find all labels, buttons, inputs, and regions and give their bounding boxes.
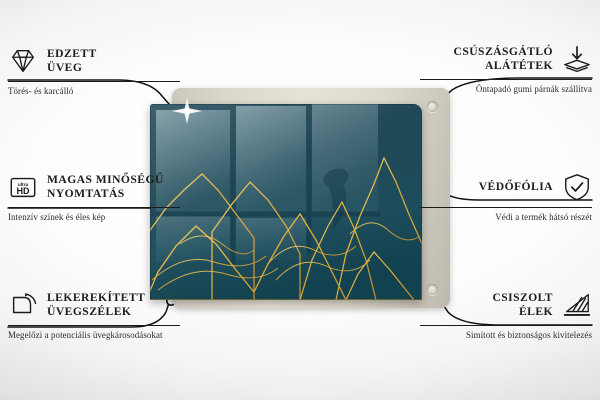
tempered-glass-panel xyxy=(150,104,422,300)
feature-title: EDZETT ÜVEG xyxy=(47,47,97,75)
infographic-canvas: EDZETT ÜVEG Törés- és karcálló ultra HD … xyxy=(0,0,600,400)
feature-header: LEKEREKÍTETT ÜVEGSZÉLEK xyxy=(8,288,180,322)
feature-description: Megelőzi a potenciális üvegkárosodásokat xyxy=(8,330,180,342)
divider xyxy=(8,207,180,208)
rounded-corner-icon xyxy=(8,290,38,320)
feature-description: Intenzív színek és éles kép xyxy=(8,212,180,224)
divider xyxy=(8,325,180,326)
feature-magas-minosegu-nyomtatas[interactable]: ultra HD MAGAS MINŐSÉGŰ NYOMTATÁS Intenz… xyxy=(8,170,180,224)
feature-description: Öntapadó gumi párnák szállítva xyxy=(420,84,592,96)
feature-description: Törés- és karcálló xyxy=(8,86,180,98)
anti-slip-pad-icon xyxy=(562,44,592,74)
feature-title: LEKEREKÍTETT ÜVEGSZÉLEK xyxy=(47,291,145,319)
shield-check-icon xyxy=(562,172,592,202)
ultra-hd-icon: ultra HD xyxy=(8,172,38,202)
feature-description: Védi a termék hátsó részét xyxy=(420,212,592,224)
svg-text:HD: HD xyxy=(17,186,30,196)
product-image xyxy=(150,96,450,308)
diamond-icon xyxy=(8,46,38,76)
divider xyxy=(420,325,592,326)
feature-csiszolt-elek[interactable]: CSISZOLT ÉLEK Simított és biztonságos ki… xyxy=(420,288,592,342)
feature-csuszasgatlo-alatetek[interactable]: CSÚSZÁSGÁTLÓ ALÁTÉTEK Öntapadó gumi párn… xyxy=(420,42,592,96)
feature-vedofolia[interactable]: VÉDŐFÓLIA Védi a termék hátsó részét xyxy=(420,170,592,224)
mounting-hole-top-right xyxy=(427,101,438,112)
feature-title: CSÚSZÁSGÁTLÓ ALÁTÉTEK xyxy=(454,45,553,73)
feature-header: CSISZOLT ÉLEK xyxy=(420,288,592,322)
feature-lekerekitett-uvegszelek[interactable]: LEKEREKÍTETT ÜVEGSZÉLEK Megelőzi a poten… xyxy=(8,288,180,342)
divider xyxy=(8,81,180,82)
feature-title: MAGAS MINŐSÉGŰ NYOMTATÁS xyxy=(47,173,164,201)
beveled-edge-icon xyxy=(562,290,592,320)
feature-title: CSISZOLT ÉLEK xyxy=(492,291,553,319)
feature-header: ultra HD MAGAS MINŐSÉGŰ NYOMTATÁS xyxy=(8,170,180,204)
feature-header: EDZETT ÜVEG xyxy=(8,44,180,78)
feature-header: CSÚSZÁSGÁTLÓ ALÁTÉTEK xyxy=(420,42,592,76)
feature-header: VÉDŐFÓLIA xyxy=(420,170,592,204)
divider xyxy=(420,79,592,80)
feature-title: VÉDŐFÓLIA xyxy=(479,180,553,194)
feature-description: Simított és biztonságos kivitelezés xyxy=(420,330,592,342)
feature-edzett-uveg[interactable]: EDZETT ÜVEG Törés- és karcálló xyxy=(8,44,180,98)
divider xyxy=(420,207,592,208)
glass-artwork xyxy=(150,104,422,300)
